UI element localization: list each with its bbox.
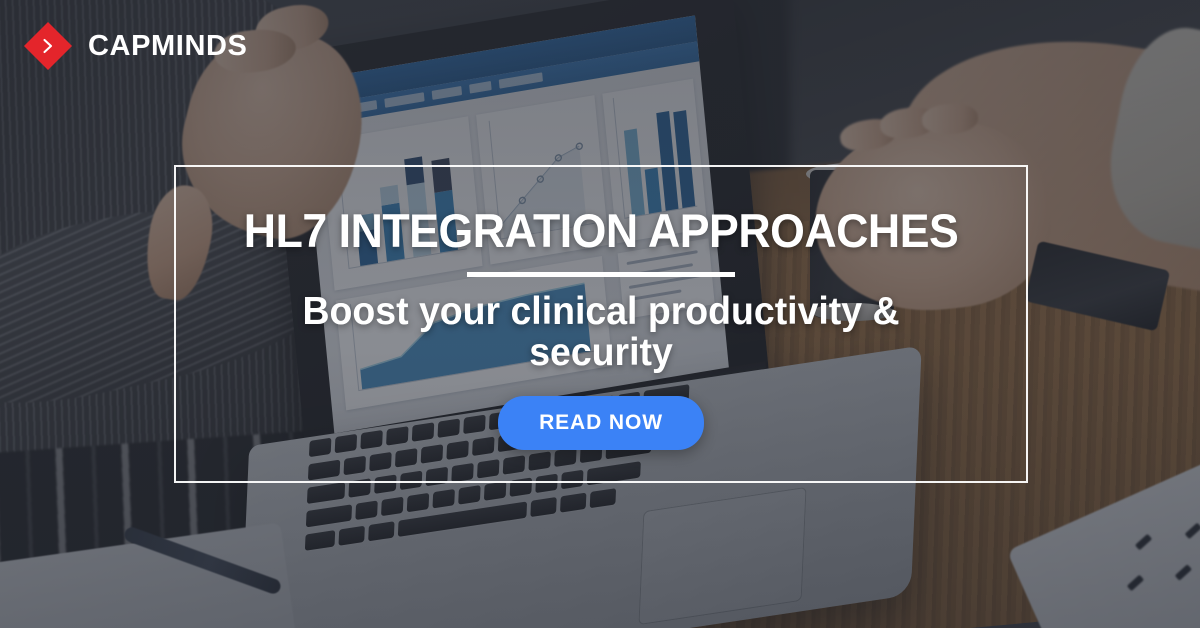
banner-content: HL7 INTEGRATION APPROACHES Boost your cl… xyxy=(174,165,1028,483)
brand-name: CAPMINDS xyxy=(88,30,247,63)
title-divider xyxy=(467,272,735,277)
chevron-right-diamond-icon xyxy=(24,22,72,70)
page-title: HL7 INTEGRATION APPROACHES xyxy=(244,207,959,254)
subtitle: Boost your clinical productivity & secur… xyxy=(265,291,937,374)
brand-logo[interactable]: CAPMINDS xyxy=(24,22,247,70)
read-now-button[interactable]: READ NOW xyxy=(498,396,704,450)
promo-banner: CAPMINDS HL7 INTEGRATION APPROACHES Boos… xyxy=(0,0,1200,628)
